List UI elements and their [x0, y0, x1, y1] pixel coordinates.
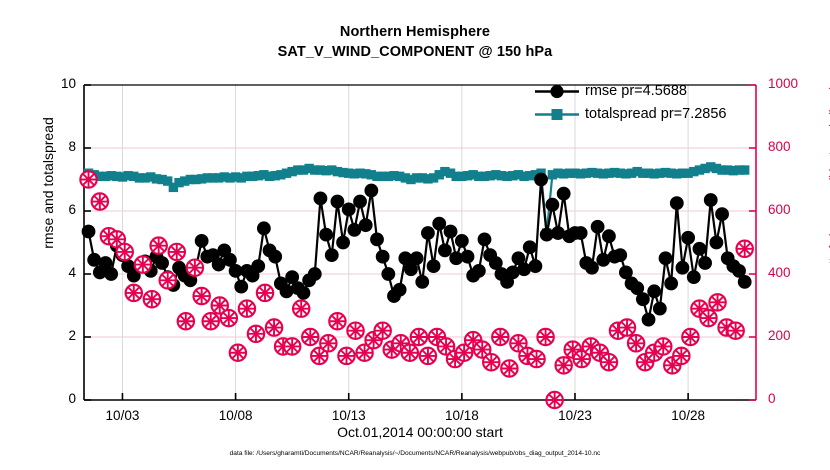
marker-circle — [614, 249, 627, 262]
marker-circle — [331, 195, 344, 208]
legend-label: rmse pr=4.5688 — [585, 80, 687, 103]
marker-circle — [359, 219, 372, 232]
marker-circle — [410, 252, 423, 265]
marker-circle — [427, 260, 440, 273]
y-tick-label-right: 400 — [768, 265, 828, 280]
y-tick-label-right: 1000 — [768, 76, 828, 91]
legend-circle-icon — [533, 80, 581, 103]
marker-square — [740, 166, 748, 174]
marker-circle — [535, 173, 548, 186]
marker-circle — [354, 195, 367, 208]
marker-circle — [518, 263, 531, 276]
x-tick-label: 10/18 — [427, 408, 497, 423]
marker-circle — [506, 266, 519, 279]
marker-circle — [337, 236, 350, 249]
x-tick-label: 10/23 — [540, 408, 610, 423]
marker-circle — [653, 302, 666, 315]
marker-circle — [88, 253, 101, 266]
x-tick-label: 10/03 — [87, 408, 157, 423]
y-tick-label-right: 800 — [768, 139, 828, 154]
legend-label: totalspread pr=7.2856 — [585, 103, 726, 126]
marker-circle — [438, 244, 451, 257]
plot-area — [0, 0, 830, 470]
y-tick-label-left: 0 — [36, 391, 76, 406]
marker-circle — [603, 230, 616, 243]
marker-circle — [670, 197, 683, 210]
marker-circle — [342, 203, 355, 216]
marker-circle — [716, 208, 729, 221]
marker-circle — [574, 227, 587, 240]
marker-circle — [557, 187, 570, 200]
marker-circle — [195, 235, 208, 248]
marker-circle — [235, 280, 248, 293]
marker-circle — [682, 231, 695, 244]
marker-circle — [257, 222, 270, 235]
x-tick-label: 10/08 — [201, 408, 271, 423]
figure-canvas: Northern Hemisphere SAT_V_WIND_COMPONENT… — [0, 0, 830, 470]
marker-circle — [676, 261, 689, 274]
marker-circle — [82, 225, 95, 238]
marker-circle — [433, 217, 446, 230]
marker-circle — [586, 261, 599, 274]
marker-circle — [371, 233, 384, 246]
marker-circle — [665, 277, 678, 290]
y-tick-label-left: 6 — [36, 202, 76, 217]
marker-circle — [416, 275, 429, 288]
marker-circle — [156, 257, 169, 270]
y-tick-label-right: 0 — [768, 391, 828, 406]
marker-circle — [478, 233, 491, 246]
chart-legend: rmse pr=4.5688totalspread pr=7.2856 — [533, 80, 726, 126]
marker-circle — [523, 241, 536, 254]
marker-circle — [280, 285, 293, 298]
y-tick-label-left: 2 — [36, 328, 76, 343]
marker-circle — [710, 236, 723, 249]
marker-circle — [376, 250, 389, 263]
marker-circle — [738, 275, 751, 288]
marker-circle — [687, 271, 700, 284]
marker-circle — [636, 293, 649, 306]
marker-circle — [693, 242, 706, 255]
marker-circle — [540, 228, 553, 241]
marker-circle — [393, 283, 406, 296]
marker-circle — [252, 260, 265, 273]
marker-circle — [648, 285, 661, 298]
marker-circle — [450, 252, 463, 265]
marker-circle — [365, 184, 378, 197]
marker-circle — [472, 264, 485, 277]
marker-circle — [314, 192, 327, 205]
legend-item[interactable]: rmse pr=4.5688 — [533, 80, 726, 103]
marker-circle — [308, 268, 321, 281]
marker-circle — [552, 227, 565, 240]
marker-circle — [382, 268, 395, 281]
x-tick-label: 10/13 — [314, 408, 384, 423]
legend-item[interactable]: totalspread pr=7.2856 — [533, 103, 726, 126]
marker-circle — [269, 250, 282, 263]
marker-circle — [529, 260, 542, 273]
marker-circle — [461, 250, 474, 263]
marker-circle — [325, 249, 338, 262]
marker-circle — [597, 253, 610, 266]
y-tick-label-left: 4 — [36, 265, 76, 280]
marker-circle — [642, 313, 655, 326]
legend-square-icon — [533, 103, 581, 126]
marker-circle — [297, 287, 310, 300]
marker-circle — [546, 198, 559, 211]
marker-circle — [699, 257, 712, 270]
marker-circle — [444, 225, 457, 238]
y-tick-label-right: 600 — [768, 202, 828, 217]
y-tick-label-left: 8 — [36, 139, 76, 154]
marker-circle — [704, 194, 717, 207]
marker-circle — [455, 235, 468, 248]
marker-circle — [591, 220, 604, 233]
x-tick-label: 10/28 — [653, 408, 723, 423]
y-tick-label-left: 10 — [36, 76, 76, 91]
y-tick-label-right: 200 — [768, 328, 828, 343]
marker-circle — [422, 227, 435, 240]
marker-circle — [320, 228, 333, 241]
marker-circle — [105, 268, 118, 281]
marker-circle — [659, 252, 672, 265]
